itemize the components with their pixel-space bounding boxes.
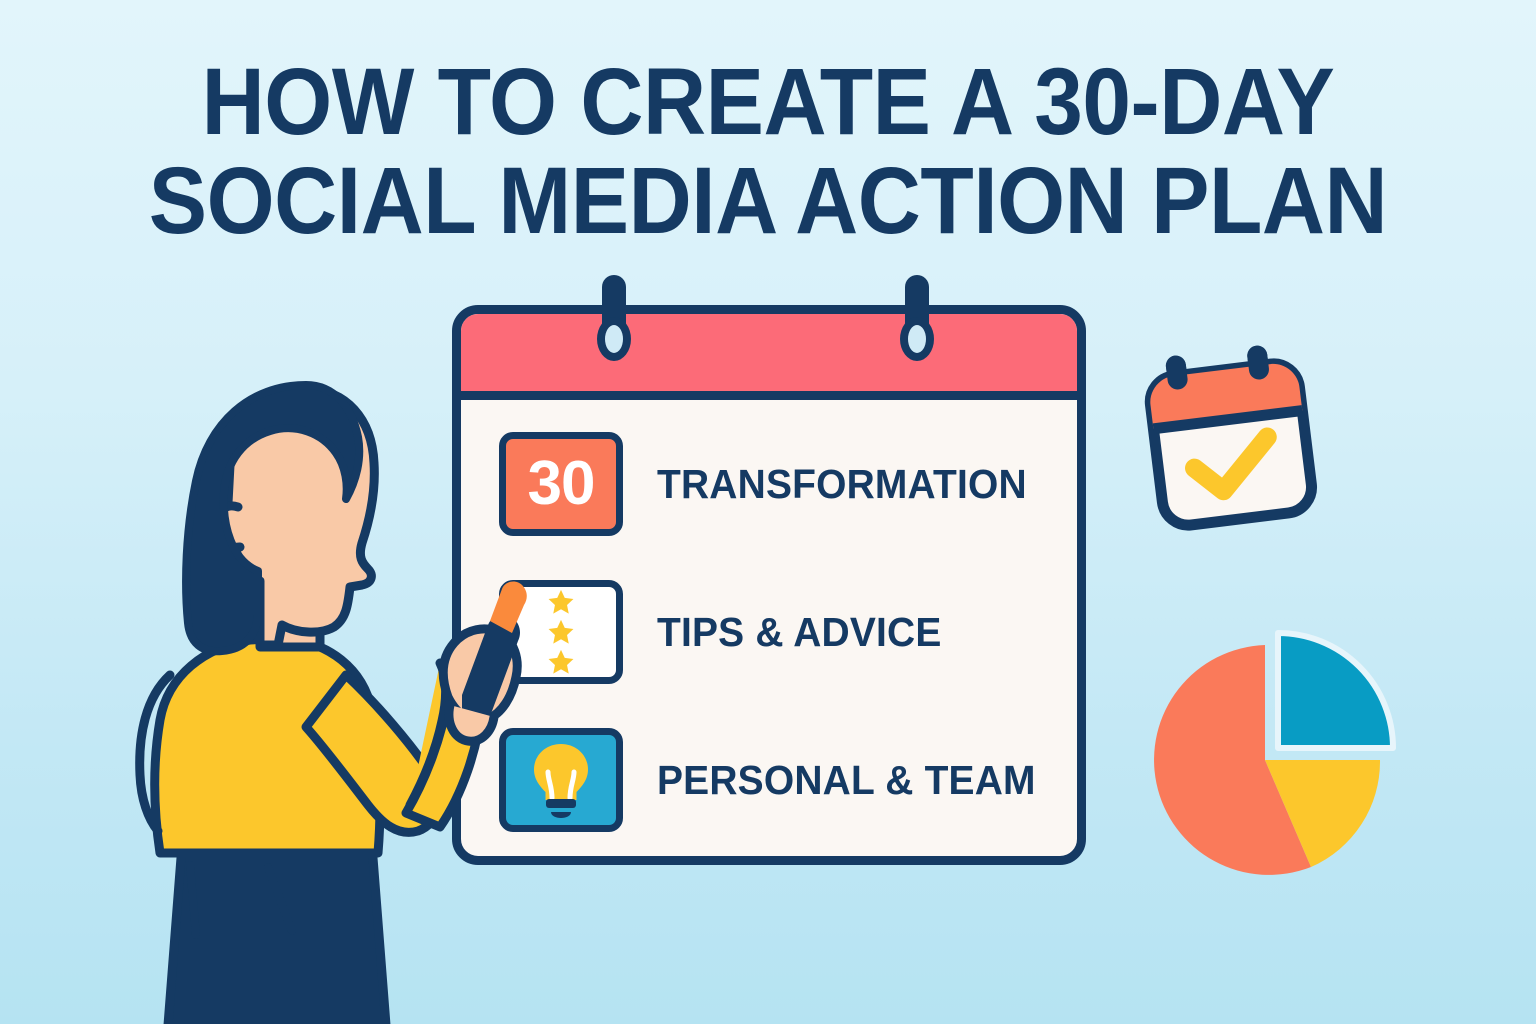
calendar-check-icon xyxy=(1140,335,1330,545)
board-row-tips-advice[interactable]: TIPS & ADVICE xyxy=(461,558,1077,706)
binder-ring-left-icon xyxy=(597,275,631,361)
title-line-2: SOCIAL MEDIA ACTION PLAN xyxy=(61,155,1474,248)
woman-illustration xyxy=(110,375,540,1024)
star-icon xyxy=(546,648,576,677)
title-line-1: HOW TO CREATE A 30-DAY xyxy=(61,56,1474,149)
row-label-transformation: TRANSFORMATION xyxy=(657,461,1027,508)
ring-loop xyxy=(597,317,631,361)
ring-loop xyxy=(900,317,934,361)
board-row-personal-team[interactable]: PERSONAL & TEAM xyxy=(461,706,1077,854)
skirt xyxy=(168,845,386,1024)
calendar-board: 30 TRANSFORMATION xyxy=(452,305,1086,865)
infographic-canvas: HOW TO CREATE A 30-DAY SOCIAL MEDIA ACTI… xyxy=(0,0,1536,1024)
calendar-header-band xyxy=(461,314,1077,400)
pie-slice-teal xyxy=(1278,633,1393,748)
binder-ring-right-icon xyxy=(900,275,934,361)
star-rating xyxy=(546,588,576,677)
board-row-transformation[interactable]: 30 TRANSFORMATION xyxy=(461,410,1077,558)
row-label-personal-team: PERSONAL & TEAM xyxy=(657,757,1036,804)
star-icon xyxy=(546,588,576,617)
star-icon xyxy=(546,618,576,647)
row-label-tips-advice: TIPS & ADVICE xyxy=(657,609,942,656)
pie-chart xyxy=(1130,570,1430,900)
calendar-row-list: 30 TRANSFORMATION xyxy=(461,410,1077,854)
page-title: HOW TO CREATE A 30-DAY SOCIAL MEDIA ACTI… xyxy=(0,56,1536,248)
